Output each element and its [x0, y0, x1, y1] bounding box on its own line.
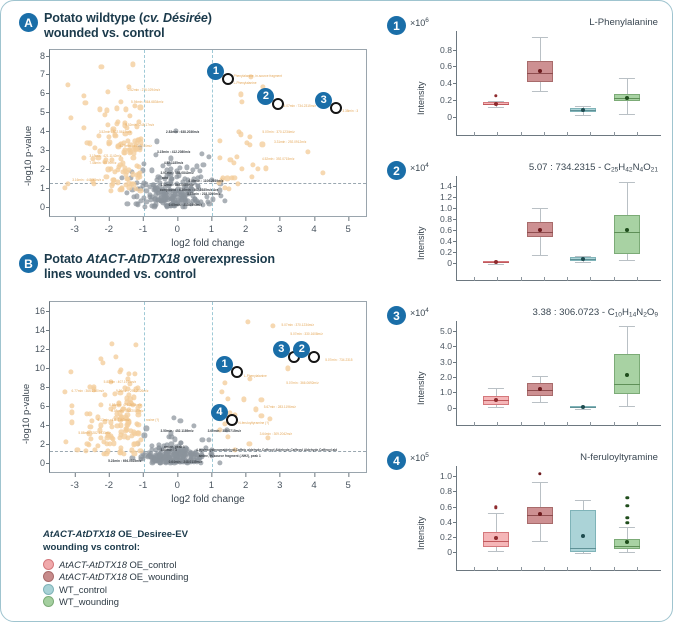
boxplot-xtick	[474, 567, 475, 571]
volcano-point	[192, 177, 197, 182]
panel-a-title-line2: wounded vs. control	[44, 26, 165, 40]
boxplot-median	[614, 232, 640, 233]
boxplot-whisker-cap	[619, 552, 635, 553]
volcano-xtick: -3	[70, 480, 78, 491]
boxplot-ytick: 1.0	[440, 387, 452, 397]
boxplot-outlier	[538, 472, 541, 475]
volcano-point	[225, 396, 230, 401]
volcano-point	[130, 62, 135, 67]
volcano-annotation: 5.23min : 694.0525m/z	[108, 459, 141, 463]
volcano-point	[144, 426, 149, 431]
volcano-annotation: 3.38min : 3	[342, 109, 358, 113]
volcano-point	[222, 380, 227, 385]
volcano-point	[126, 407, 131, 412]
volcano-point	[118, 423, 123, 428]
volcano-point	[217, 138, 222, 143]
volcano-point	[200, 438, 205, 443]
boxplot-xtick	[544, 567, 545, 571]
boxplot-exponent-2: ×104	[410, 162, 429, 173]
legend-color-swatch	[43, 571, 54, 582]
boxplot-ytick: 2.0	[440, 372, 452, 382]
volcano-point	[247, 134, 252, 139]
volcano-point	[142, 204, 147, 209]
boxplot-xtick	[497, 277, 498, 281]
boxplot-ylabel-1: Intensity	[416, 81, 426, 115]
boxplot-area-4: 00.20.40.60.81.0	[456, 466, 661, 571]
boxplot-ytick: 0.6	[440, 61, 452, 71]
boxplot-outlier	[494, 506, 497, 509]
boxplot-ytick: 1.0	[440, 203, 452, 213]
volcano-point	[130, 456, 135, 461]
volcano-annotation: N-feruloyltyramine (?)	[238, 421, 269, 425]
volcano-annotation: 3.31min : 292.0912m/z	[274, 140, 306, 144]
panel-b-title-line2: lines wounded vs. control	[44, 267, 196, 281]
panel-a-title: Potato wildtype (cv. Désirée) wounded vs…	[44, 11, 344, 42]
boxplot-whisker-cap	[532, 37, 548, 38]
boxplot-ytick: 0.8	[440, 214, 452, 224]
volcano-point	[131, 155, 136, 160]
volcano-point	[97, 428, 102, 433]
volcano-point	[201, 162, 206, 167]
volcano-point	[118, 416, 123, 421]
volcano-point	[209, 177, 214, 182]
volcano-point	[108, 379, 113, 384]
volcano-xtick: -2	[105, 480, 113, 491]
volcano-annotation: 2.83min : 638.2036m/z	[166, 130, 199, 134]
volcano-point	[245, 319, 250, 324]
volcano-point	[255, 166, 260, 171]
volcano-point	[86, 443, 91, 448]
boxplot-xtick	[474, 132, 475, 136]
boxplot-whisker-cap	[532, 541, 548, 542]
volcano-point	[138, 105, 143, 110]
boxplot-ytick: 1.4	[440, 181, 452, 191]
volcano-annotation: 6.77min : 366.2360m/z	[72, 389, 104, 393]
volcano-annotation: 5.07min : 734.2315m/z	[284, 104, 316, 108]
boxplot-ytick: 0.4	[440, 517, 452, 527]
volcano-point	[63, 439, 68, 444]
boxplot-ytick: 0.4	[440, 236, 452, 246]
volcano-point	[153, 152, 158, 157]
highlight-ring-4[interactable]	[226, 414, 238, 426]
volcano-point	[227, 186, 232, 191]
volcano-point	[87, 141, 92, 146]
volcano-point	[119, 99, 124, 104]
boxplot-median	[527, 232, 553, 233]
boxplot-median	[483, 541, 509, 542]
volcano-xtick: 1	[209, 224, 214, 235]
volcano-xtick: -2	[105, 224, 113, 235]
boxplot-ylabel-3: Intensity	[416, 371, 426, 405]
highlight-ring-1[interactable]	[222, 73, 234, 85]
boxplot-xtick	[567, 567, 568, 571]
volcano-point	[239, 99, 244, 104]
volcano-point	[138, 188, 143, 193]
panel-b-title-italic: AtACT-AtDTX18	[86, 252, 180, 266]
boxplot-outlier	[625, 496, 628, 499]
volcano-point	[127, 130, 132, 135]
boxplot-ytick: 0.8	[440, 486, 452, 496]
legend-item-2[interactable]: WT_control	[43, 584, 188, 595]
legend-item-0[interactable]: AtACT-AtDTX18 OE_control	[43, 559, 188, 570]
boxplot-xtick	[567, 422, 568, 426]
boxplot-badge-1: 1	[387, 16, 406, 35]
boxplot-whisker-cap	[488, 551, 504, 552]
volcano-point	[125, 422, 130, 427]
volcano-point	[238, 132, 243, 137]
boxplot-ylabel-4: Intensity	[416, 516, 426, 550]
boxplot-xtick	[637, 277, 638, 281]
volcano-point	[132, 371, 137, 376]
boxplot-whisker-cap	[619, 182, 635, 183]
volcano-point	[88, 436, 93, 441]
boxplot-ytick: 0.4	[440, 78, 452, 88]
volcano-point	[87, 431, 92, 436]
legend-color-swatch	[43, 559, 54, 570]
volcano-annotation: 3.15min : 412.2080m/z	[157, 150, 190, 154]
boxplot-ytick: 5.0	[440, 326, 452, 336]
volcano-point	[69, 410, 74, 415]
boxplot-mean-marker	[494, 102, 498, 106]
volcano-point	[138, 140, 143, 145]
boxplot-whisker-cap	[488, 513, 504, 514]
volcano-point	[134, 124, 139, 129]
volcano-xtick: 4	[311, 480, 316, 491]
volcano-ytick: 2	[40, 439, 45, 449]
volcano-point	[268, 417, 273, 422]
volcano-ytick: 0	[40, 458, 45, 468]
volcano-point	[81, 155, 86, 160]
panel-b-title-pre: Potato	[44, 252, 86, 266]
volcano-point	[108, 406, 113, 411]
boxplot-box[interactable]	[614, 215, 640, 254]
volcano-xtick: -3	[70, 224, 78, 235]
boxplot-mean-marker	[625, 373, 629, 377]
boxplot-ytick: 0	[447, 403, 452, 413]
boxplot-median	[570, 548, 596, 549]
volcano-xtick: 4	[311, 224, 316, 235]
boxplot-area-3: 01.02.03.04.05.0	[456, 321, 661, 426]
volcano-ytick: 8	[40, 51, 45, 61]
volcano-a-ylabel: -log10 p-value	[23, 126, 34, 186]
boxplot-xtick	[521, 132, 522, 136]
volcano-xtick: 3	[277, 224, 282, 235]
boxplot-whisker-cap	[575, 500, 591, 501]
volcano-point	[168, 156, 173, 161]
volcano-annotation: 5.07min : 370.1234m/z	[262, 130, 294, 134]
volcano-point	[82, 125, 87, 130]
volcano-annotation: 5.67min : 283.1196m/z	[264, 405, 296, 409]
volcano-point	[107, 134, 112, 139]
boxplot-mean-marker	[538, 512, 542, 516]
boxplot-xtick	[637, 132, 638, 136]
boxplot-whisker-cap	[619, 78, 635, 79]
boxplot-xtick	[614, 277, 615, 281]
volcano-point	[128, 113, 133, 118]
volcano-xtick: 0	[175, 224, 180, 235]
volcano-point	[126, 84, 131, 89]
volcano-point	[234, 154, 239, 159]
volcano-marker-badge-4[interactable]: 4	[211, 404, 228, 421]
volcano-ytick: 0	[40, 202, 45, 212]
volcano-point	[136, 412, 141, 417]
volcano-point	[121, 140, 126, 145]
boxplot-title-4: N-feruloyltyramine	[580, 452, 658, 463]
volcano-point	[138, 437, 143, 442]
boxplot-mean-marker	[494, 260, 498, 264]
volcano-ytick: 16	[35, 306, 45, 316]
volcano-point	[122, 452, 127, 457]
volcano-point	[188, 201, 193, 206]
volcano-marker-badge-3[interactable]: 3	[273, 341, 290, 358]
boxplot-title-3: 3.38 : 306.0723 - C10H14N2O9	[532, 307, 658, 319]
boxplot-xtick	[497, 422, 498, 426]
boxplot-mean-marker	[625, 540, 629, 544]
legend-items: AtACT-AtDTX18 OE_controlAtACT-AtDTX18 OE…	[43, 559, 188, 608]
boxplot-whisker-cap	[532, 402, 548, 403]
boxplot-mean-marker	[538, 69, 542, 73]
boxplot-median	[527, 73, 553, 74]
volcano-point	[112, 391, 117, 396]
volcano-point	[239, 166, 244, 171]
volcano-point	[249, 174, 254, 179]
volcano-annotation: 5.07min : 370.1234m/z	[281, 323, 313, 327]
boxplot-ytick: 0.2	[440, 95, 452, 105]
boxplot-ytick: 0	[447, 258, 452, 268]
volcano-point	[239, 92, 244, 97]
boxplot-xtick	[521, 277, 522, 281]
volcano-point	[97, 133, 102, 138]
volcano-point	[62, 389, 67, 394]
volcano-point	[69, 403, 74, 408]
panel-b-title: Potato AtACT-AtDTX18 overexpression line…	[44, 252, 354, 283]
boxplot-ytick: 0.2	[440, 247, 452, 257]
boxplot-box[interactable]	[570, 510, 596, 552]
boxplot-whisker-cap	[575, 553, 591, 554]
threshold-line-pvalue	[50, 183, 366, 184]
volcano-annotation: 5.07min : 734.2315	[325, 358, 352, 362]
volcano-ytick: 10	[35, 363, 45, 373]
boxplot-xtick	[590, 422, 591, 426]
boxplot-exponent-3: ×104	[410, 307, 429, 318]
volcano-point	[235, 181, 240, 186]
volcano-xtick: 2	[243, 224, 248, 235]
volcano-point	[102, 419, 107, 424]
boxplot-mean-marker	[538, 387, 542, 391]
volcano-point	[136, 385, 141, 390]
legend-item-3[interactable]: WT_wounding	[43, 596, 188, 607]
volcano-point	[253, 407, 258, 412]
volcano-a-xlabel: log2 fold change	[49, 238, 367, 249]
boxplot-xtick	[497, 567, 498, 571]
highlight-ring-2[interactable]	[272, 98, 284, 110]
boxplot-mean-marker	[581, 405, 585, 409]
volcano-annotation: 4.52min : 392.0715m/z	[262, 157, 294, 161]
volcano-point	[106, 89, 111, 94]
boxplot-whisker-cap	[488, 388, 504, 389]
volcano-ytick: 6	[40, 401, 45, 411]
volcano-point	[197, 168, 202, 173]
volcano-point	[217, 460, 222, 465]
boxplot-xaxis	[456, 280, 661, 281]
volcano-point	[82, 93, 87, 98]
volcano-ytick: 7	[40, 69, 45, 79]
threshold-line-fc	[144, 302, 145, 472]
volcano-point	[178, 440, 183, 445]
legend-color-swatch	[43, 596, 54, 607]
volcano-point	[95, 415, 100, 420]
boxplot-whisker-cap	[532, 255, 548, 256]
highlight-ring-3[interactable]	[330, 102, 342, 114]
panel-a-title-post: )	[208, 11, 212, 25]
volcano-point	[131, 395, 136, 400]
boxplot-xtick	[590, 567, 591, 571]
volcano-xtick: 5	[346, 480, 351, 491]
volcano-point	[88, 424, 93, 429]
volcano-marker-badge-3[interactable]: 3	[315, 92, 332, 109]
volcano-point	[66, 82, 71, 87]
volcano-annotation: Phenylalanine, in-source fragment	[234, 74, 282, 78]
boxplot-outlier	[494, 94, 497, 97]
legend-heading-italic: AtACT-AtDTX18	[43, 529, 116, 540]
volcano-ytick: 6	[40, 88, 45, 98]
volcano-marker-badge-1[interactable]: 1	[216, 356, 233, 373]
volcano-ytick: 3	[40, 145, 45, 155]
volcano-annotation: 3.64min : 309.2042m/z	[260, 432, 292, 436]
boxplot-xtick	[614, 567, 615, 571]
boxplot-ytick: 0.8	[440, 45, 452, 55]
volcano-ytick: 14	[35, 325, 45, 335]
boxplot-xtick	[544, 132, 545, 136]
highlight-ring-2[interactable]	[308, 351, 320, 363]
volcano-point	[285, 366, 290, 371]
volcano-annotation: 5.07min : 366.0692m/z	[286, 381, 318, 385]
legend-item-1[interactable]: AtACT-AtDTX18 OE_wounding	[43, 571, 188, 582]
volcano-point	[168, 182, 173, 187]
boxplot-outlier	[625, 504, 628, 507]
volcano-point	[100, 361, 105, 366]
boxplot-xtick	[567, 132, 568, 136]
boxplot-mean-marker	[494, 536, 498, 540]
highlight-ring-1[interactable]	[231, 366, 243, 378]
boxplot-xtick	[521, 567, 522, 571]
boxplot-ytick: 0	[447, 112, 452, 122]
volcano-annotation: L-Phenylalanine	[234, 81, 257, 85]
volcano-xtick: 0	[175, 480, 180, 491]
boxplot-whisker-cap	[532, 376, 548, 377]
boxplot-whisker-cap	[488, 407, 504, 408]
volcano-annotation: rosine (?)	[146, 418, 159, 422]
boxplot-median	[614, 546, 640, 547]
volcano-point	[83, 100, 88, 105]
volcano-point	[96, 155, 101, 160]
volcano-point	[174, 174, 179, 179]
volcano-annotation: 3.16min : 448.a3m/z a	[72, 178, 104, 182]
volcano-point	[123, 107, 128, 112]
volcano-point	[132, 451, 137, 456]
panel-b-badge: B	[19, 254, 38, 273]
boxplot-xaxis	[456, 135, 661, 136]
boxplot-outlier	[625, 516, 628, 519]
volcano-point	[109, 424, 114, 429]
legend-item-label: AtACT-AtDTX18 OE_wounding	[59, 571, 188, 582]
boxplot-whisker-cap	[532, 482, 548, 483]
boxplot-exponent-1: ×106	[410, 17, 429, 28]
boxplot-yaxis	[456, 321, 457, 426]
boxplot-whisker-cap	[619, 260, 635, 261]
volcano-point	[207, 438, 212, 443]
legend-heading-line2: wounding vs control:	[43, 542, 140, 553]
volcano-point	[97, 149, 102, 154]
volcano-point	[103, 392, 108, 397]
volcano-point	[191, 423, 196, 428]
panel-b-title-post: overexpression	[180, 252, 275, 266]
volcano-xtick: 3	[277, 480, 282, 491]
volcano-point	[89, 418, 94, 423]
volcano-point	[249, 74, 254, 79]
volcano-point	[226, 434, 231, 439]
volcano-point	[141, 162, 146, 167]
volcano-point	[126, 371, 131, 376]
volcano-point	[102, 112, 107, 117]
volcano-point	[99, 65, 104, 70]
volcano-point	[125, 201, 130, 206]
volcano-point	[113, 354, 118, 359]
volcano-point	[247, 441, 252, 446]
volcano-point	[123, 428, 128, 433]
boxplot-whisker-cap	[532, 208, 548, 209]
volcano-point	[98, 423, 103, 428]
volcano-point	[320, 170, 325, 175]
boxplot-xtick	[590, 132, 591, 136]
volcano-point	[232, 175, 237, 180]
boxplot-xtick	[614, 422, 615, 426]
volcano-point	[105, 123, 110, 128]
boxplot-xtick	[614, 132, 615, 136]
boxplot-mean-marker	[625, 96, 629, 100]
volcano-point	[117, 370, 122, 375]
legend-heading: AtACT-AtDTX18 OE_Desiree-EV wounding vs …	[43, 529, 188, 555]
boxplot-ytick: 1.0	[440, 471, 452, 481]
boxplot-xaxis	[456, 570, 661, 571]
boxplot-xtick	[497, 132, 498, 136]
volcano-point	[231, 160, 236, 165]
boxplot-mean-marker	[581, 257, 585, 261]
boxplot-badge-2: 2	[387, 161, 406, 180]
volcano-b-xlabel: log2 fold change	[49, 494, 367, 505]
boxplot-mean-marker	[494, 398, 498, 402]
boxplot-whisker-cap	[532, 91, 548, 92]
boxplot-exponent-4: ×105	[410, 452, 429, 463]
volcano-point	[155, 139, 160, 144]
volcano-point	[190, 167, 195, 172]
volcano-plot-b: 5.07min : 370.1234m/z5.07min : 330.1608m…	[49, 301, 367, 473]
volcano-point	[109, 341, 114, 346]
volcano-annotation: 5.07min : 330.1608m/z	[290, 332, 322, 336]
volcano-ytick: 4	[40, 420, 45, 430]
panel-a-badge: A	[19, 13, 38, 32]
volcano-point	[259, 414, 264, 419]
volcano-point	[264, 166, 269, 171]
boxplot-badge-4: 4	[387, 451, 406, 470]
panel-a-title-italic: cv. Désirée	[143, 11, 208, 25]
boxplot-mean-marker	[538, 228, 542, 232]
volcano-point	[108, 188, 113, 193]
volcano-point	[172, 437, 177, 442]
boxplot-whisker-cap	[619, 527, 635, 528]
volcano-xtick: 1	[209, 480, 214, 491]
boxplot-title-2: 5.07 : 734.2315 - C25H42N4O21	[529, 162, 658, 174]
